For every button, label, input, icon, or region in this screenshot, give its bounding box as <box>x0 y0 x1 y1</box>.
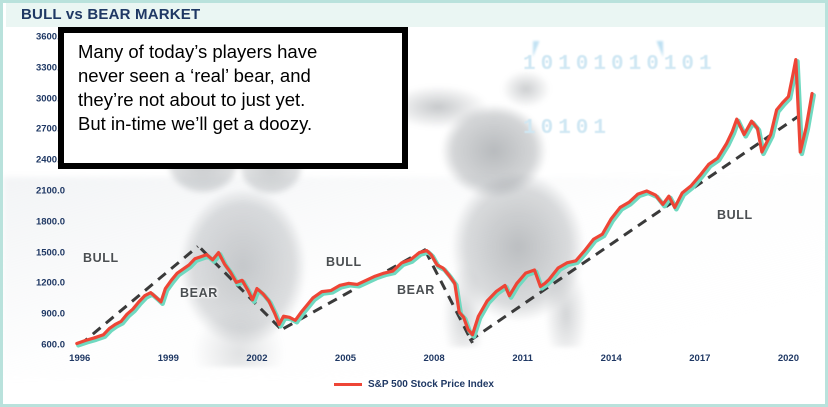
phase-label-bull: BULL <box>83 251 119 265</box>
phase-label-bull: BULL <box>326 255 362 269</box>
page-title: BULL vs BEAR MARKET <box>21 6 200 23</box>
legend-label: S&P 500 Stock Price Index <box>368 379 494 390</box>
trendline-bull <box>470 111 807 341</box>
phase-label-bear: BEAR <box>180 286 218 300</box>
phase-label-bear: BEAR <box>397 283 435 297</box>
callout-box: Many of today’s players have never seen … <box>58 27 408 169</box>
chart-frame: BULL vs BEAR MARKET 10101010101 10101 60… <box>0 0 828 407</box>
legend-swatch-icon <box>334 383 362 386</box>
callout-text: Many of today’s players have never seen … <box>78 40 392 136</box>
legend: S&P 500 Stock Price Index <box>3 379 825 390</box>
phase-label-bull: BULL <box>717 208 753 222</box>
